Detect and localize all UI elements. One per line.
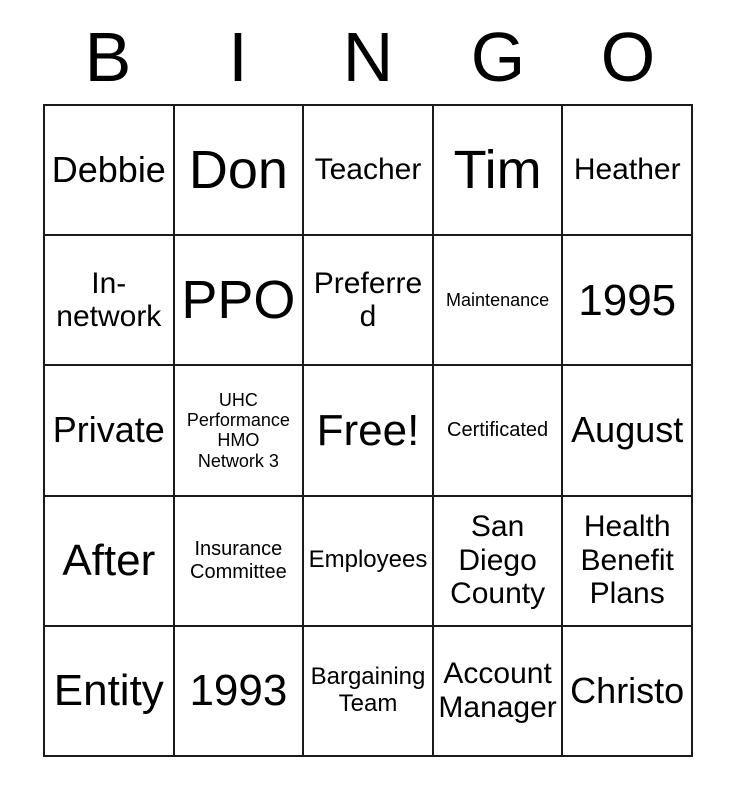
bingo-cell-label: Health Benefit Plans: [567, 510, 687, 611]
bingo-cell-label: 1993: [179, 666, 299, 715]
header-letter-b: B: [43, 22, 173, 92]
bingo-cell[interactable]: Don: [175, 106, 305, 236]
bingo-cell-label: San Diego County: [438, 510, 558, 611]
header-letter-g: G: [433, 22, 563, 92]
bingo-cell-label: Entity: [49, 666, 169, 715]
bingo-cell-label: Maintenance: [438, 290, 558, 310]
bingo-cell-label: Teacher: [308, 153, 428, 187]
bingo-header-row: B I N G O: [43, 16, 693, 98]
bingo-cell-label: UHC Performance HMO Network 3: [179, 390, 299, 471]
bingo-cell[interactable]: UHC Performance HMO Network 3: [175, 366, 305, 496]
bingo-cell[interactable]: Tim: [434, 106, 564, 236]
bingo-cell[interactable]: Employees: [304, 497, 434, 627]
header-letter-i: I: [173, 22, 303, 92]
bingo-cell-free[interactable]: Free!: [304, 366, 434, 496]
bingo-cell-label: After: [49, 536, 169, 585]
bingo-cell-label: Private: [49, 410, 169, 450]
bingo-cell[interactable]: In- network: [45, 236, 175, 366]
bingo-cell-label: Christo: [567, 671, 687, 711]
bingo-grid: DebbieDonTeacherTimHeatherIn- networkPPO…: [43, 104, 693, 757]
bingo-cell[interactable]: 1995: [563, 236, 693, 366]
bingo-cell-label: Account Manager: [438, 657, 558, 724]
bingo-cell[interactable]: Private: [45, 366, 175, 496]
bingo-cell-label: Employees: [308, 547, 428, 574]
bingo-cell[interactable]: Entity: [45, 627, 175, 757]
bingo-cell-label: Don: [179, 140, 299, 200]
bingo-cell[interactable]: Maintenance: [434, 236, 564, 366]
bingo-card: B I N G O DebbieDonTeacherTimHeatherIn- …: [0, 0, 736, 800]
bingo-cell[interactable]: Heather: [563, 106, 693, 236]
bingo-cell-label: In- network: [49, 267, 169, 334]
bingo-cell[interactable]: Debbie: [45, 106, 175, 236]
bingo-cell-label: Certificated: [438, 419, 558, 441]
bingo-cell[interactable]: Preferred: [304, 236, 434, 366]
bingo-cell[interactable]: PPO: [175, 236, 305, 366]
bingo-cell[interactable]: Insurance Committee: [175, 497, 305, 627]
bingo-cell-label: Free!: [308, 406, 428, 455]
bingo-cell[interactable]: After: [45, 497, 175, 627]
bingo-cell-label: Bargaining Team: [308, 664, 428, 718]
bingo-cell-label: Insurance Committee: [179, 538, 299, 583]
bingo-cell[interactable]: San Diego County: [434, 497, 564, 627]
bingo-cell-label: Tim: [438, 140, 558, 200]
bingo-cell-label: August: [567, 410, 687, 450]
bingo-cell-label: 1995: [567, 276, 687, 325]
bingo-cell-label: Heather: [567, 153, 687, 187]
bingo-cell[interactable]: Account Manager: [434, 627, 564, 757]
bingo-cell[interactable]: Certificated: [434, 366, 564, 496]
bingo-cell[interactable]: Christo: [563, 627, 693, 757]
bingo-cell-label: PPO: [179, 270, 299, 330]
header-letter-o: O: [563, 22, 693, 92]
bingo-cell[interactable]: Teacher: [304, 106, 434, 236]
bingo-cell[interactable]: Health Benefit Plans: [563, 497, 693, 627]
header-letter-n: N: [303, 22, 433, 92]
bingo-cell[interactable]: 1993: [175, 627, 305, 757]
bingo-cell-label: Debbie: [49, 150, 169, 190]
bingo-cell-label: Preferred: [308, 267, 428, 334]
bingo-cell[interactable]: Bargaining Team: [304, 627, 434, 757]
bingo-cell[interactable]: August: [563, 366, 693, 496]
